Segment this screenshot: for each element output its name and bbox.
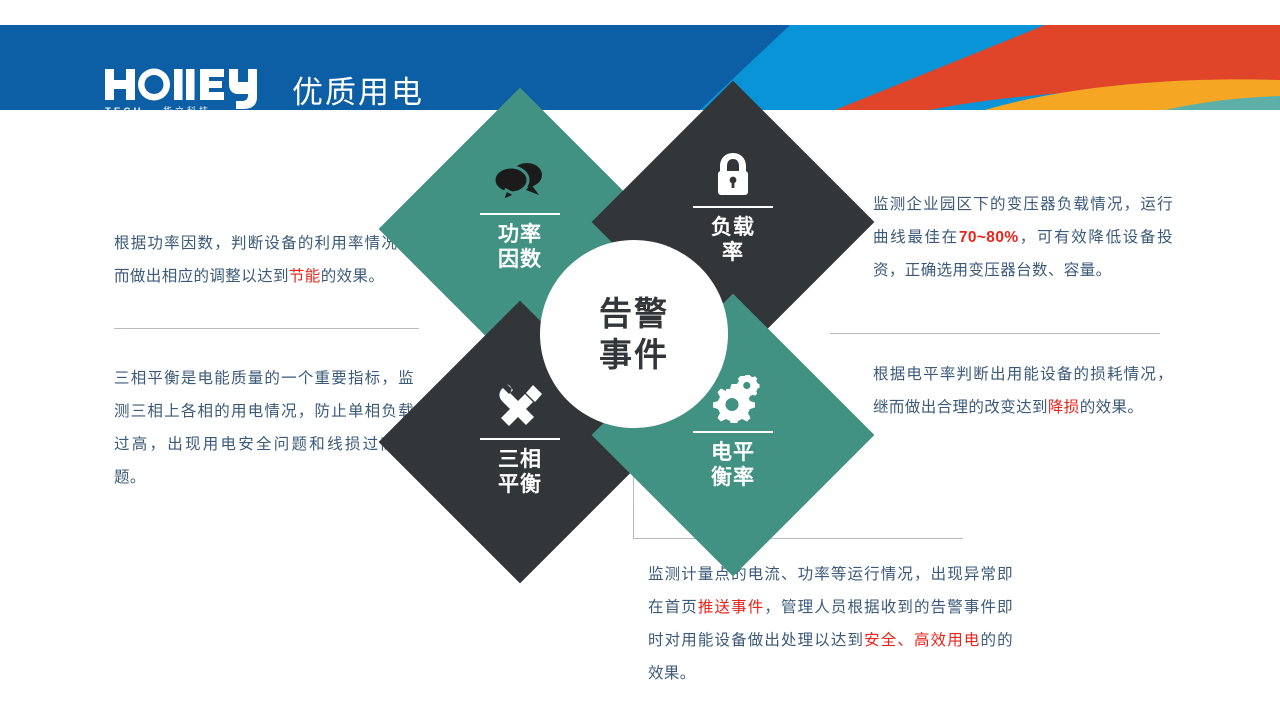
diamond-label-electric-balance: 电平 衡率 <box>700 440 766 490</box>
description-three-phase-balance: 三相平衡是电能质量的一个重要指标，监测三相上各相的用电情况，防止单相负载过高，出… <box>114 362 414 494</box>
holley-wordmark-icon: TECH 华立科技 <box>105 67 265 110</box>
lock-icon <box>713 148 753 200</box>
label-line-1: 负载 <box>700 215 766 240</box>
diamond-rule <box>693 206 773 208</box>
svg-text:华立科技: 华立科技 <box>163 105 211 110</box>
label-line-2: 衡率 <box>700 465 766 490</box>
label-line-2: 平衡 <box>487 472 553 497</box>
description-load-rate: 监测企业园区下的变压器负载情况，运行曲线最佳在70~80%，可有效降低设备投资，… <box>873 188 1173 287</box>
text-plain: 三相平衡是电能质量的一个重要指标，监测三相上各相的用电情况，防止单相负载过高，出… <box>114 370 414 486</box>
description-power-factor: 根据功率因数，判断设备的利用率情况从而做出相应的调整以达到节能的效果。 <box>114 227 414 293</box>
diamond-label-load-rate: 负载 率 <box>700 215 766 265</box>
description-alarm-event: 监测计量点的电流、功率等运行情况，出现异常即在首页推送事件，管理人员根据收到的告… <box>648 558 1013 690</box>
diamond-label-power-factor: 功率 因数 <box>487 222 553 272</box>
holley-tech-logo: TECH 华立科技 <box>105 67 265 110</box>
label-line-2: 因数 <box>487 247 553 272</box>
center-circle-alarm-event[interactable]: 告警事件 <box>540 240 728 428</box>
label-line-1: 功率 <box>487 222 553 247</box>
diamond-label-three-phase: 三相 平衡 <box>487 447 553 497</box>
slide-header: TECH 华立科技 优质用电 <box>0 25 1280 110</box>
diamond-rule <box>480 213 560 215</box>
description-electric-balance-rate: 根据电平率判断出用能设备的损耗情况，继而做出合理的改变达到降损的效果。 <box>873 358 1173 424</box>
text-plain-2: 的效果。 <box>1080 399 1144 416</box>
label-line-1: 三相 <box>487 447 553 472</box>
center-label: 告警事件 <box>594 293 674 375</box>
speech-bubbles-icon <box>493 155 547 207</box>
divider-right <box>830 333 1160 334</box>
text-highlight-2: 安全、高效用电 <box>864 632 980 649</box>
svg-text:TECH: TECH <box>105 106 144 110</box>
label-line-1: 电平 <box>700 440 766 465</box>
text-plain-2: 的效果。 <box>321 268 385 285</box>
divider-left <box>114 328 419 329</box>
diamond-rule <box>693 431 773 433</box>
text-highlight: 降损 <box>1048 399 1080 416</box>
slide-canvas: TECH 华立科技 优质用电 根据功率因数，判断设备的利用率情况从而做出相应的调… <box>0 0 1280 720</box>
text-highlight-1: 推送事件 <box>698 599 765 616</box>
text-highlight: 70~80% <box>959 229 1019 246</box>
label-line-2: 率 <box>700 240 766 265</box>
diamond-rule <box>480 438 560 440</box>
tools-icon <box>495 380 545 432</box>
page-title: 优质用电 <box>292 74 424 110</box>
text-highlight: 节能 <box>289 268 321 285</box>
